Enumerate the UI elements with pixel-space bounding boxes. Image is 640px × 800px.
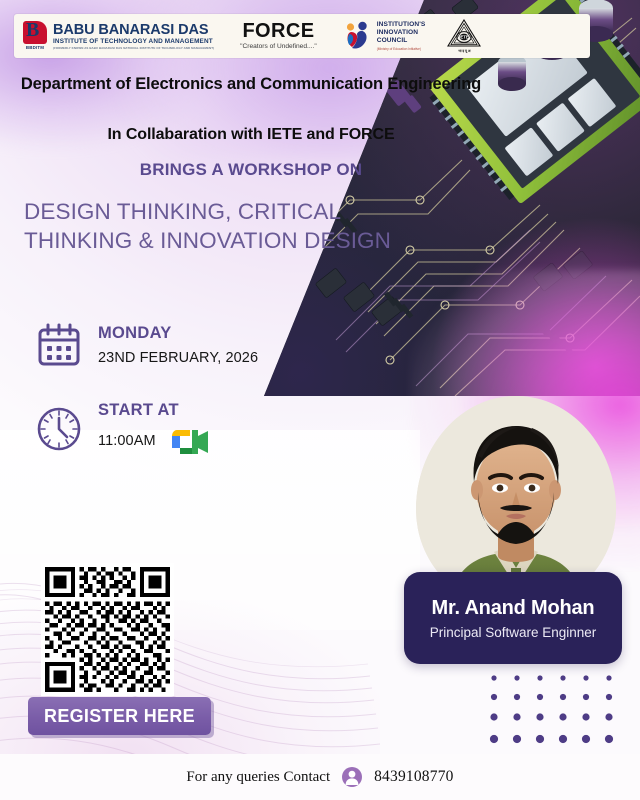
bbd-shield-icon: BBDITM <box>22 21 48 51</box>
iete-hindi-text: भा इ दू अ <box>458 48 470 53</box>
svg-text:IETE: IETE <box>460 35 470 40</box>
iic-line3: COUNCIL <box>377 37 426 45</box>
registration-qr-code[interactable] <box>41 563 174 696</box>
bbd-abbrev: BBDITM <box>26 45 44 50</box>
logo-institutions-innovation-council: INSTITUTION'S INNOVATION COUNCIL (Minist… <box>343 21 426 52</box>
force-tagline: "Creators of Undefined...." <box>240 44 317 51</box>
date-day: MONDAY <box>98 325 258 342</box>
brings-workshop-line: BRINGS A WORKSHOP ON <box>16 160 486 180</box>
contact-footer: For any queries Contact 8439108770 <box>0 754 640 800</box>
speaker-name: Mr. Anand Mohan <box>432 597 595 620</box>
time-label: START AT <box>98 402 210 419</box>
bbd-subtitle: INSTITUTE OF TECHNOLOGY AND MANAGEMENT <box>53 39 214 45</box>
contact-phone: 8439108770 <box>374 768 454 786</box>
register-here-button[interactable]: REGISTER HERE <box>28 697 211 735</box>
contact-label: For any queries Contact <box>186 769 330 786</box>
calendar-icon <box>36 322 82 368</box>
iic-ministry: (Ministry of Education Initiative) <box>377 47 426 51</box>
workshop-title: DESIGN THINKING, CRITICAL THINKING & INN… <box>24 198 424 256</box>
department-heading: Department of Electronics and Communicat… <box>16 74 486 96</box>
time-value: 11:00AM <box>98 434 156 449</box>
workshop-poster: BBDITM BABU BANARASI DAS INSTITUTE OF TE… <box>0 0 640 800</box>
clock-icon <box>36 406 82 452</box>
time-row: START AT 11:00AM <box>36 402 210 456</box>
iic-line1: INSTITUTION'S <box>377 21 426 29</box>
date-full: 23ND FEBRUARY, 2026 <box>98 351 258 366</box>
force-name: FORCE <box>240 21 317 41</box>
collaboration-line: In Collabaration with IETE and FORCE <box>16 126 486 144</box>
person-icon <box>342 767 362 787</box>
bbd-formerly: (FORMERLY KNOWN AS BABU BANARASI DAS NAT… <box>53 47 214 50</box>
date-row: MONDAY 23ND FEBRUARY, 2026 <box>36 322 258 368</box>
bbd-name: BABU BANARASI DAS <box>53 23 214 38</box>
logo-babu-banarasi-das: BBDITM BABU BANARASI DAS INSTITUTE OF TE… <box>22 21 214 51</box>
iete-triangle-icon: IETE <box>447 19 481 47</box>
institution-logo-bar: BBDITM BABU BANARASI DAS INSTITUTE OF TE… <box>14 14 590 58</box>
iic-figures-icon <box>343 21 373 51</box>
logo-iete: IETE भा इ दू अ <box>447 19 481 53</box>
iic-line2: INNOVATION <box>377 29 426 37</box>
speaker-role: Principal Software Enginner <box>430 625 597 640</box>
register-button-label: REGISTER HERE <box>44 706 195 727</box>
speaker-block: Mr. Anand Mohan Principal Software Engin… <box>404 396 630 664</box>
google-meet-icon <box>170 428 210 456</box>
logo-force: FORCE "Creators of Undefined...." <box>240 21 317 51</box>
speaker-name-card: Mr. Anand Mohan Principal Software Engin… <box>404 572 622 664</box>
